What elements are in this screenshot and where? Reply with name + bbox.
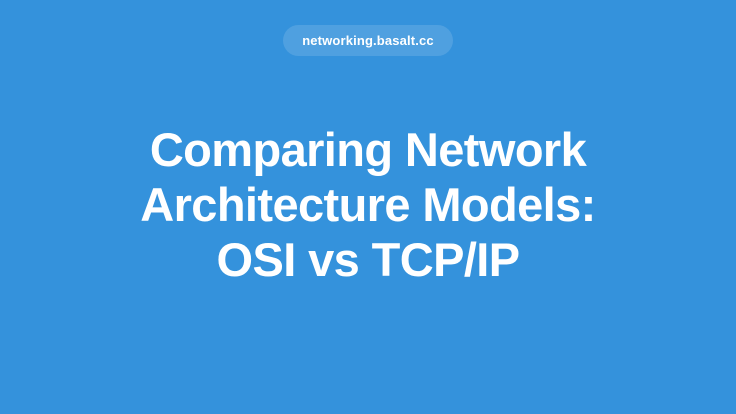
badge-row: networking.basalt.cc bbox=[0, 25, 736, 56]
page-title-line-2: Architecture Models: bbox=[40, 177, 696, 232]
site-domain-badge: networking.basalt.cc bbox=[283, 25, 453, 56]
page-title: Comparing Network Architecture Models: O… bbox=[0, 122, 736, 287]
page-title-line-3: OSI vs TCP/IP bbox=[40, 232, 696, 287]
page-title-line-1: Comparing Network bbox=[40, 122, 696, 177]
title-slide: networking.basalt.cc Comparing Network A… bbox=[0, 0, 736, 414]
site-domain-label: networking.basalt.cc bbox=[302, 34, 434, 47]
